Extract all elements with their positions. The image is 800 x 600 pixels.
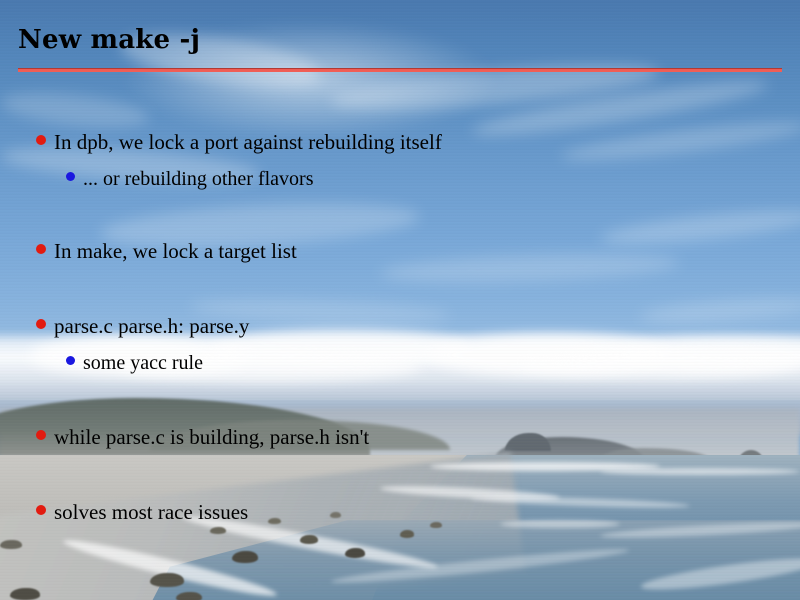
bullet-item-level1: while parse.c is building, parse.h isn't	[36, 427, 369, 448]
bullet-item-level1: parse.c parse.h: parse.y	[36, 316, 249, 337]
bullet-text: some yacc rule	[83, 353, 203, 374]
bullet-text: solves most race issues	[54, 502, 248, 523]
bullet-dot-blue-icon	[66, 172, 75, 181]
bullet-dot-red-icon	[36, 135, 46, 145]
bullet-item-level2: some yacc rule	[66, 353, 203, 374]
bullet-dot-red-icon	[36, 319, 46, 329]
presentation-slide: New make -j In dpb, we lock a port again…	[0, 0, 800, 600]
slide-title: New make -j	[18, 24, 200, 56]
bullet-dot-red-icon	[36, 505, 46, 515]
bullet-item-level2: ... or rebuilding other flavors	[66, 169, 314, 190]
bullet-text: In dpb, we lock a port against rebuildin…	[54, 132, 442, 153]
bullet-item-level1: In dpb, we lock a port against rebuildin…	[36, 132, 442, 153]
bullet-text: parse.c parse.h: parse.y	[54, 316, 249, 337]
bullet-item-level1: In make, we lock a target list	[36, 241, 297, 262]
bullet-dot-red-icon	[36, 244, 46, 254]
bullet-text: In make, we lock a target list	[54, 241, 297, 262]
bullet-text: ... or rebuilding other flavors	[83, 169, 314, 190]
title-underline-rule	[18, 68, 782, 72]
slide-content: New make -j In dpb, we lock a port again…	[0, 0, 800, 600]
bullet-item-level1: solves most race issues	[36, 502, 248, 523]
bullet-text: while parse.c is building, parse.h isn't	[54, 427, 369, 448]
bullet-dot-red-icon	[36, 430, 46, 440]
bullet-dot-blue-icon	[66, 356, 75, 365]
